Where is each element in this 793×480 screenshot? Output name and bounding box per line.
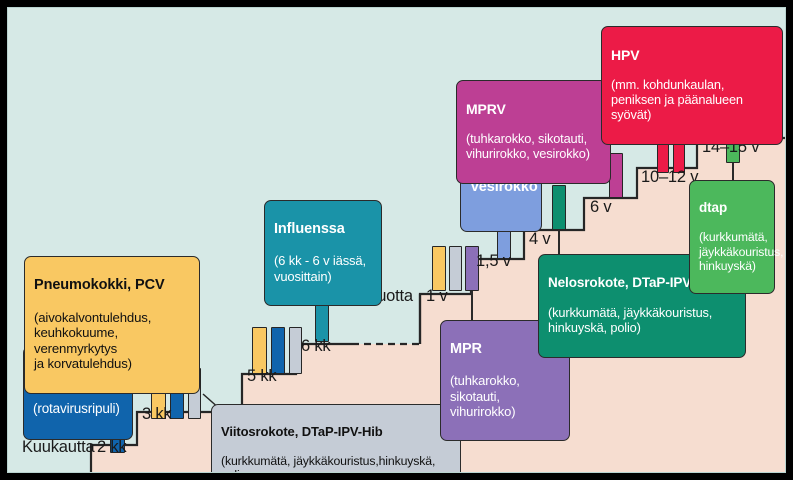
callout-dtap[interactable]: dtap (kurkkumätä, jäykkäkouristus, hinku… [689,180,775,294]
callout-rotavirus-subtitle: (rotavirusripuli) [33,401,124,417]
callout-viitosrokote-subtitle: (kurkkumätä, jäykkäkouristus,hinkuyskä, … [221,454,452,473]
callout-influenssa-subtitle: (6 kk - 6 v iässä, vuosittain) [274,253,373,283]
callout-pneumokokki-subtitle: (aivokalvontulehdus, keuhkokuume, verenm… [34,310,191,372]
callout-hpv[interactable]: HPV (mm. kohdunkaulan, peniksen ja pääna… [601,26,783,145]
tick-label-3kk: 3 kk [142,405,171,424]
callout-nelosrokote-subtitle: (kurkkumätä, jäykkäkouristus, hinkuyskä,… [548,306,737,336]
chart-canvas: Kuukautta 2 kk 3 kk 5 kk 6 kk Vuotta 1 v… [7,7,786,473]
axis-label-kuukautta: Kuukautta [22,438,95,457]
callout-hpv-subtitle: (mm. kohdunkaulan, peniksen ja päänaluee… [611,78,774,123]
tick-label-6v: 6 v [590,198,611,217]
callout-viitosrokote-title: Viitosrokote, DTaP-IPV-Hib [221,424,452,439]
tick-label-6kk: 6 kk [301,337,330,356]
dose-bar-viitosrokote-1v[interactable] [449,246,462,291]
callout-mpr-subtitle: (tuhkarokko, sikotauti, vihurirokko) [450,373,561,419]
tick-label-1v: 1 v [426,287,447,306]
callout-influenssa-title: Influenssa [274,221,373,238]
callout-hpv-title: HPV [611,47,774,63]
dose-bar-pcv-1v[interactable] [432,246,446,291]
callout-mprv[interactable]: MPRV (tuhkarokko, sikotauti, vihurirokko… [456,80,611,184]
tick-label-5kk: 5 kk [247,367,276,386]
callout-pneumokokki[interactable]: Pneumokokki, PCV (aivokalvontulehdus, ke… [24,256,200,394]
callout-mprv-title: MPRV [466,101,602,117]
callout-influenssa[interactable]: Influenssa (6 kk - 6 v iässä, vuosittain… [264,200,382,306]
tick-label-4v: 4 v [529,230,550,249]
callout-mprv-subtitle: (tuhkarokko, sikotauti, vihurirokko, ves… [466,132,602,162]
callout-dtap-title: dtap [699,200,766,216]
callout-pneumokokki-title: Pneumokokki, PCV [34,277,191,294]
dose-bar-nelosrokote-4v[interactable] [552,185,566,230]
callout-viitosrokote[interactable]: Viitosrokote, DTaP-IPV-Hib (kurkkumätä, … [211,404,461,473]
callout-dtap-subtitle: (kurkkumätä, jäykkäkouristus, hinkuyskä) [699,230,766,273]
infographic-root: Kuukautta 2 kk 3 kk 5 kk 6 kk Vuotta 1 v… [0,0,793,480]
tick-label-1-5v: 1,5 v [476,252,511,271]
dose-bar-mprv-6v[interactable] [609,153,623,198]
tick-label-2kk: 2 kk [97,438,126,457]
